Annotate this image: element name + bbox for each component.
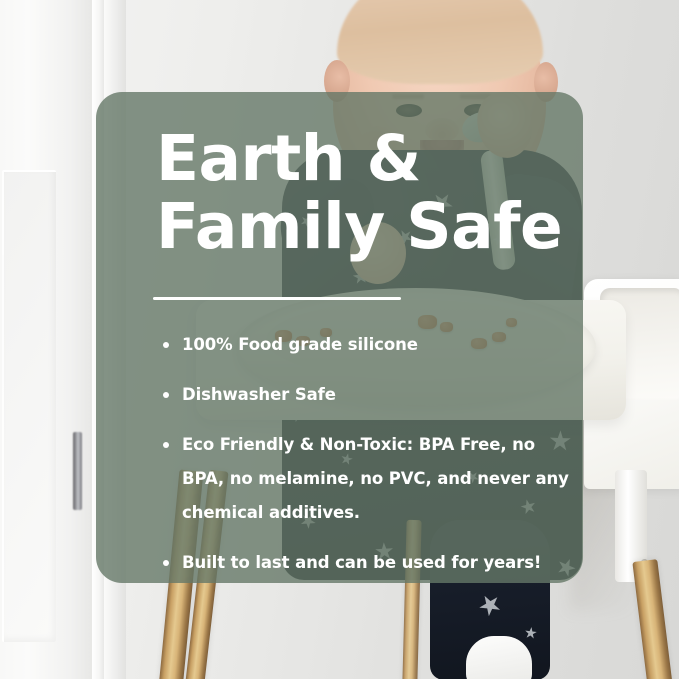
baby-hair [337, 0, 543, 84]
headline-divider [153, 297, 401, 300]
list-item-label: 100% Food grade silicone [182, 335, 418, 354]
list-item: Eco Friendly & Non-Toxic: BPA Free, no B… [153, 428, 573, 530]
feature-list: 100% Food grade silicone Dishwasher Safe… [153, 328, 573, 580]
list-item-label: Built to last and can be used for years! [182, 553, 541, 572]
bullet-icon [163, 560, 169, 566]
headline: Earth & Family Safe [156, 125, 568, 261]
bullet-icon [163, 392, 169, 398]
info-card: Earth & Family Safe 100% Food grade sili… [96, 92, 583, 583]
list-item: Dishwasher Safe [153, 378, 573, 412]
bullet-icon [163, 442, 169, 448]
door-hinge [73, 432, 82, 510]
headline-line-2: Family Safe [156, 193, 568, 261]
list-item-label: Dishwasher Safe [182, 385, 336, 404]
star-icon: ★ [523, 625, 538, 642]
list-item: Built to last and can be used for years! [153, 546, 573, 580]
door-panel-inset [2, 170, 56, 642]
list-item: 100% Food grade silicone [153, 328, 573, 362]
product-infographic: ★★★★★★★★★★★★★★★★★★★ Earth & Family Safe … [0, 0, 679, 679]
bullet-icon [163, 342, 169, 348]
list-item-label: Eco Friendly & Non-Toxic: BPA Free, no B… [182, 435, 569, 522]
headline-line-1: Earth & [156, 122, 421, 195]
baby-sock [466, 636, 532, 679]
